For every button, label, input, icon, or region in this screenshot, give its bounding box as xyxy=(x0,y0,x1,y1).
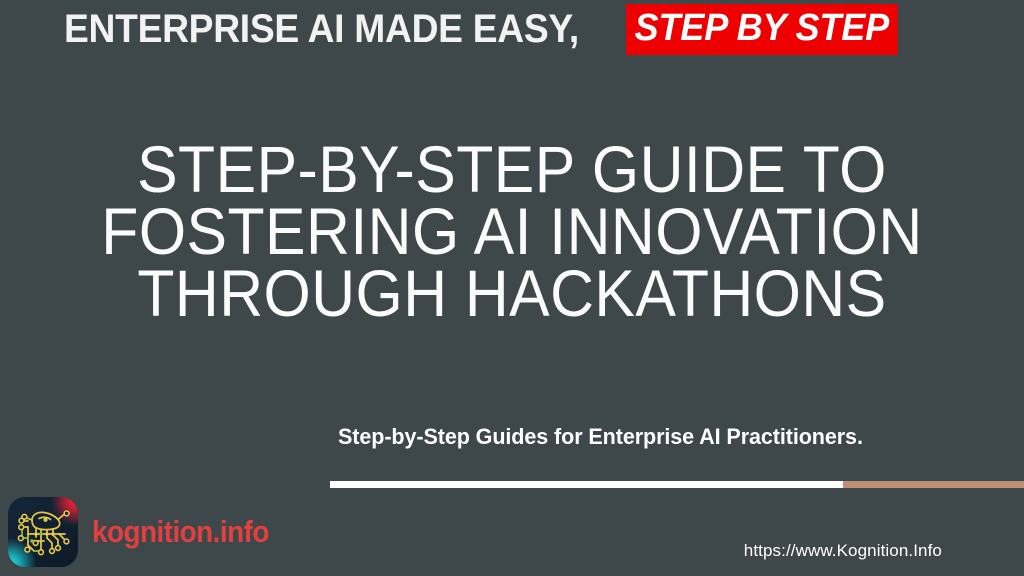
divider-secondary-segment xyxy=(843,481,1024,488)
header-accent-badge: STEP BY STEP xyxy=(626,4,898,55)
brand-wordmark: kognition.info xyxy=(92,514,269,550)
title-line-3: THROUGH HACKATHONS xyxy=(41,262,983,324)
divider xyxy=(330,481,1024,488)
header-banner: ENTERPRISE AI MADE EASY, STEP BY STEP xyxy=(0,0,1024,58)
brand-logo-lockup: kognition.info xyxy=(8,497,289,567)
title-line-1: STEP-BY-STEP GUIDE TO xyxy=(41,138,983,200)
title-line-2: FOSTERING AI INNOVATION xyxy=(41,200,983,262)
header-lead-text: ENTERPRISE AI MADE EASY, xyxy=(64,9,579,49)
divider-primary-segment xyxy=(330,481,843,488)
page-title: STEP-BY-STEP GUIDE TO FOSTERING AI INNOV… xyxy=(0,138,1024,324)
circuit-brain-logo-icon xyxy=(8,497,78,567)
site-url: https://www.Kognition.Info xyxy=(744,541,942,561)
presentation-slide: ENTERPRISE AI MADE EASY, STEP BY STEP ST… xyxy=(0,0,1024,576)
subtitle-text: Step-by-Step Guides for Enterprise AI Pr… xyxy=(338,424,863,450)
